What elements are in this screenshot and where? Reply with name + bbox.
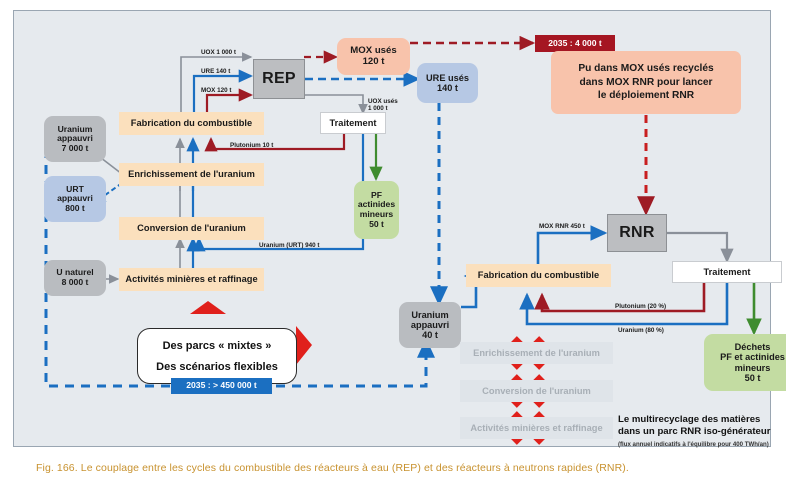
- conclusion-line1: Le multirecyclage des matières: [618, 414, 760, 425]
- callout-line1: Pu dans MOX usés recyclés: [578, 62, 713, 75]
- disabled-enrichissement-label: Enrichissement de l'uranium: [473, 348, 600, 358]
- flow-label-uranium-rnr-text: Uranium (80 %): [618, 327, 664, 334]
- rnr-label: RNR: [619, 224, 655, 242]
- badge-2035-red: 2035 : 4 000 t: [535, 35, 615, 52]
- flow-label-plutonium-rep: Plutonium 10 t: [230, 142, 273, 149]
- ure-uses-line1: URE usés: [426, 73, 469, 83]
- rnr-fabrication-label: Fabrication du combustible: [478, 270, 599, 280]
- disabled-conversion-label: Conversion de l'uranium: [482, 386, 591, 396]
- node-mox-uses-120: MOX usés 120 t: [337, 38, 410, 75]
- node-u-naturel-8000: U naturel 8 000 t: [44, 260, 106, 296]
- dechets-line3: mineurs: [735, 363, 771, 373]
- callout-pu-mox-recycle: Pu dans MOX usés recyclés dans MOX RNR p…: [551, 51, 741, 114]
- node-urt-appauvri-800: URT appauvri 800 t: [44, 176, 106, 222]
- disabled-step-enrichissement: Enrichissement de l'uranium: [460, 342, 613, 364]
- conclusion-line2: dans un parc RNR iso-générateur: [618, 426, 770, 437]
- badge-red-label: 2035 : 4 000 t: [548, 39, 602, 49]
- node-rep-enrichissement: Enrichissement de l'uranium: [119, 163, 264, 186]
- rnr-traitement-label: Traitement: [703, 267, 750, 277]
- node-rep-fabrication: Fabrication du combustible: [119, 112, 264, 135]
- diagram-panel: Uranium appauvri 7 000 t URT appauvri 80…: [13, 10, 771, 447]
- node-uranium-appauvri-7000: Uranium appauvri 7 000 t: [44, 116, 106, 162]
- figure-root: Uranium appauvri 7 000 t URT appauvri 80…: [0, 0, 786, 485]
- dechets-line2: PF et actinides: [720, 352, 785, 362]
- conclusion-fine-print: (flux annuel indicatifs à l'équilibre po…: [618, 441, 786, 449]
- rep-conversion-label: Conversion de l'uranium: [137, 223, 246, 233]
- node-uranium-appauvri-40: Uranium appauvri 40 t: [399, 302, 461, 348]
- flow-label-uox-uses: UOX usés 1 000 t: [368, 98, 398, 112]
- flow-label-uox-text: UOX 1 000 t: [201, 49, 236, 56]
- node-rnr-fabrication: Fabrication du combustible: [466, 264, 611, 287]
- urt-appauvri-line3: 800 t: [65, 204, 85, 214]
- uranium-40-line1: Uranium: [411, 310, 448, 320]
- callout-line2: dans MOX RNR pour lancer: [579, 76, 712, 89]
- flow-label-uox-uses-l2: 1 000 t: [368, 105, 388, 112]
- flow-label-mox-rnr-text: MOX RNR 450 t: [539, 223, 585, 230]
- scenario-line2: Des scénarios flexibles: [156, 361, 278, 373]
- disabled-step-activites-minieres: Activités minières et raffinage: [460, 417, 613, 439]
- figure-caption-text: Fig. 166. Le couplage entre les cycles d…: [36, 462, 629, 474]
- badge-2035-blue: 2035 : > 450 000 t: [171, 378, 272, 394]
- rep-traitement-label: Traitement: [329, 118, 376, 128]
- flow-label-uox-uses-l1: UOX usés: [368, 98, 398, 105]
- node-reactor-rep: REP: [253, 59, 305, 99]
- node-rep-traitement: Traitement: [320, 112, 386, 134]
- node-rep-activites-minieres: Activités minières et raffinage: [119, 268, 264, 291]
- rep-fabrication-label: Fabrication du combustible: [131, 118, 252, 128]
- node-rnr-traitement: Traitement: [672, 261, 782, 283]
- node-pf-actinides-mineurs-50: PF actinides mineurs 50 t: [354, 181, 399, 239]
- node-ure-uses-140: URE usés 140 t: [417, 63, 478, 103]
- node-reactor-rnr: RNR: [607, 214, 667, 252]
- u-naturel-line2: 8 000 t: [62, 278, 89, 288]
- flow-label-mox: MOX 120 t: [201, 87, 231, 94]
- flow-label-uranium-rnr: Uranium (80 %): [618, 327, 664, 334]
- flow-label-plutonium-rnr-text: Plutonium (20 %): [615, 303, 666, 310]
- mox-uses-line2: 120 t: [363, 57, 385, 68]
- dechets-line4: 50 t: [745, 373, 761, 383]
- flow-label-uranium-urt-text: Uranium (URT) 940 t: [259, 242, 320, 249]
- flow-label-ure-text: URE 140 t: [201, 68, 230, 75]
- flow-label-uranium-urt: Uranium (URT) 940 t: [259, 242, 320, 249]
- ure-uses-line2: 140 t: [437, 83, 458, 93]
- scenario-box: Des parcs « mixtes » Des scénarios flexi…: [137, 328, 297, 384]
- flow-label-mox-text: MOX 120 t: [201, 87, 231, 94]
- mox-uses-line1: MOX usés: [350, 46, 396, 57]
- flow-label-mox-rnr: MOX RNR 450 t: [539, 223, 585, 230]
- uranium-40-line3: 40 t: [422, 330, 438, 340]
- rep-activites-minieres-label: Activités minières et raffinage: [125, 274, 257, 284]
- uranium-appauvri-line3: 7 000 t: [62, 144, 89, 154]
- dechets-line1: Déchets: [735, 342, 771, 352]
- node-rep-conversion: Conversion de l'uranium: [119, 217, 264, 240]
- conclusion-text: Le multirecyclage des matières dans un p…: [618, 414, 786, 449]
- uranium-40-line2: appauvri: [411, 320, 449, 330]
- callout-line3: le déploiement RNR: [598, 89, 694, 102]
- pf-line4: 50 t: [369, 220, 384, 230]
- flow-label-plutonium-rep-text: Plutonium 10 t: [230, 142, 273, 149]
- badge-blue-label: 2035 : > 450 000 t: [186, 381, 256, 391]
- rep-label: REP: [262, 70, 296, 88]
- flow-label-plutonium-rnr: Plutonium (20 %): [615, 303, 666, 310]
- flow-label-uox: UOX 1 000 t: [201, 49, 236, 56]
- disabled-step-conversion: Conversion de l'uranium: [460, 380, 613, 402]
- scenario-line1: Des parcs « mixtes »: [163, 340, 272, 352]
- node-dechets-pf-actinides: Déchets PF et actinides mineurs 50 t: [704, 334, 786, 391]
- rep-enrichissement-label: Enrichissement de l'uranium: [128, 169, 255, 179]
- disabled-activites-label: Activités minières et raffinage: [470, 423, 602, 433]
- flow-label-ure: URE 140 t: [201, 68, 230, 75]
- figure-caption: Fig. 166. Le couplage entre les cycles d…: [36, 462, 756, 474]
